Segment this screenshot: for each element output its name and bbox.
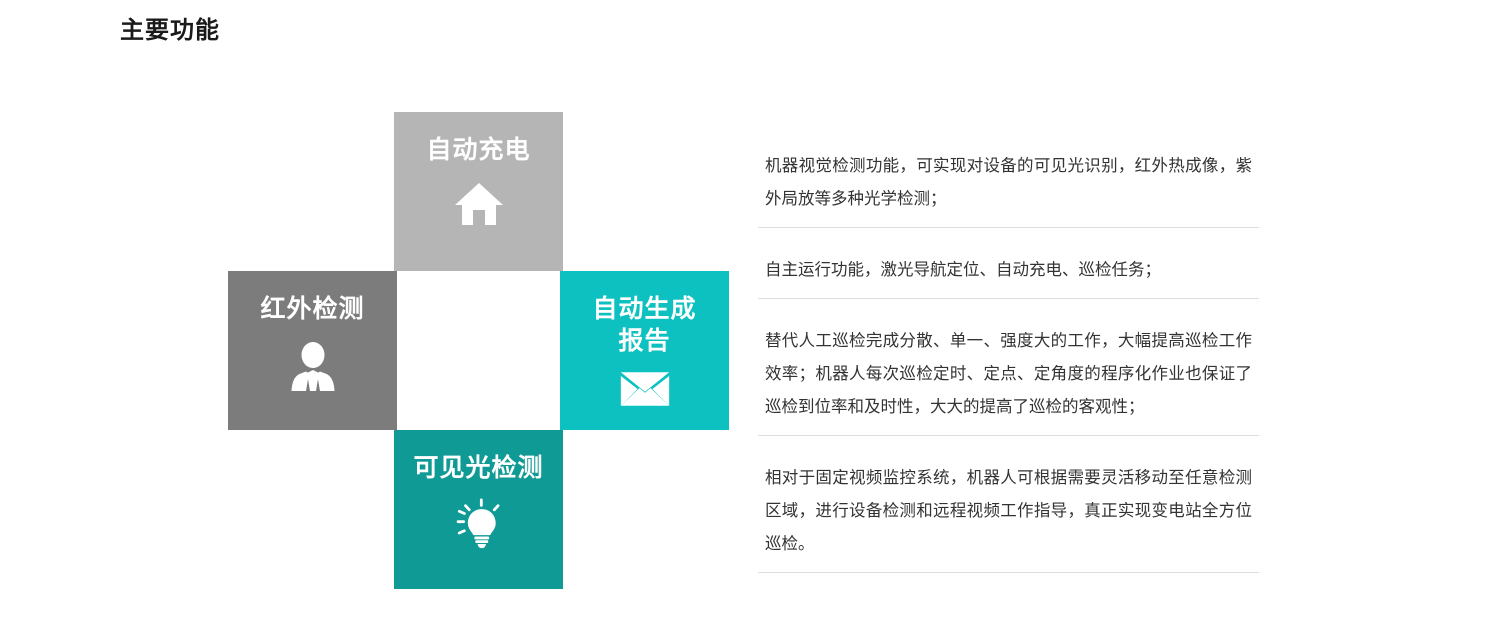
feature-description-text: 替代人工巡检完成分散、单一、强度大的工作，大幅提高巡检工作效率；机器人每次巡检定… (758, 315, 1259, 435)
feature-tile-label: 红外检测 (260, 293, 364, 325)
spacer (758, 299, 1259, 315)
feature-description-text: 相对于固定视频监控系统，机器人可根据需要灵活移动至任意检测区域，进行设备检测和远… (758, 452, 1259, 572)
spacer (758, 436, 1259, 452)
feature-tile-auto-report[interactable]: 自动生成 报告 (560, 271, 729, 430)
feature-description-list: 机器视觉检测功能，可实现对设备的可见光识别，红外热成像，紫外局放等多种光学检测；… (758, 140, 1259, 573)
feature-description-item: 相对于固定视频监控系统，机器人可根据需要灵活移动至任意检测区域，进行设备检测和远… (758, 452, 1259, 573)
envelope-icon (619, 363, 671, 415)
feature-description-item: 机器视觉检测功能，可实现对设备的可见光识别，红外热成像，紫外局放等多种光学检测； (758, 140, 1259, 228)
feature-description-text: 机器视觉检测功能，可实现对设备的可见光识别，红外热成像，紫外局放等多种光学检测； (758, 140, 1259, 227)
feature-tile-infrared-detection[interactable]: 红外检测 (228, 271, 397, 430)
person-icon (287, 341, 339, 393)
feature-divider (758, 572, 1259, 573)
feature-tile-label: 可见光检测 (413, 452, 543, 484)
feature-tile-label: 自动充电 (426, 134, 530, 166)
lightbulb-icon (453, 498, 505, 550)
feature-tile-visible-light-detection[interactable]: 可见光检测 (394, 430, 563, 589)
feature-description-text: 自主运行功能，激光导航定位、自动充电、巡检任务； (758, 244, 1259, 298)
feature-description-item: 自主运行功能，激光导航定位、自动充电、巡检任务； (758, 244, 1259, 299)
page-title: 主要功能 (120, 17, 220, 46)
feature-description-item: 替代人工巡检完成分散、单一、强度大的工作，大幅提高巡检工作效率；机器人每次巡检定… (758, 315, 1259, 436)
feature-tile-auto-charging[interactable]: 自动充电 (394, 112, 563, 271)
feature-cross-diagram: 自动充电 红外检测 自动生成 报告 (228, 112, 731, 588)
home-icon (453, 178, 505, 230)
spacer (758, 228, 1259, 244)
feature-tile-label: 自动生成 报告 (592, 293, 696, 357)
